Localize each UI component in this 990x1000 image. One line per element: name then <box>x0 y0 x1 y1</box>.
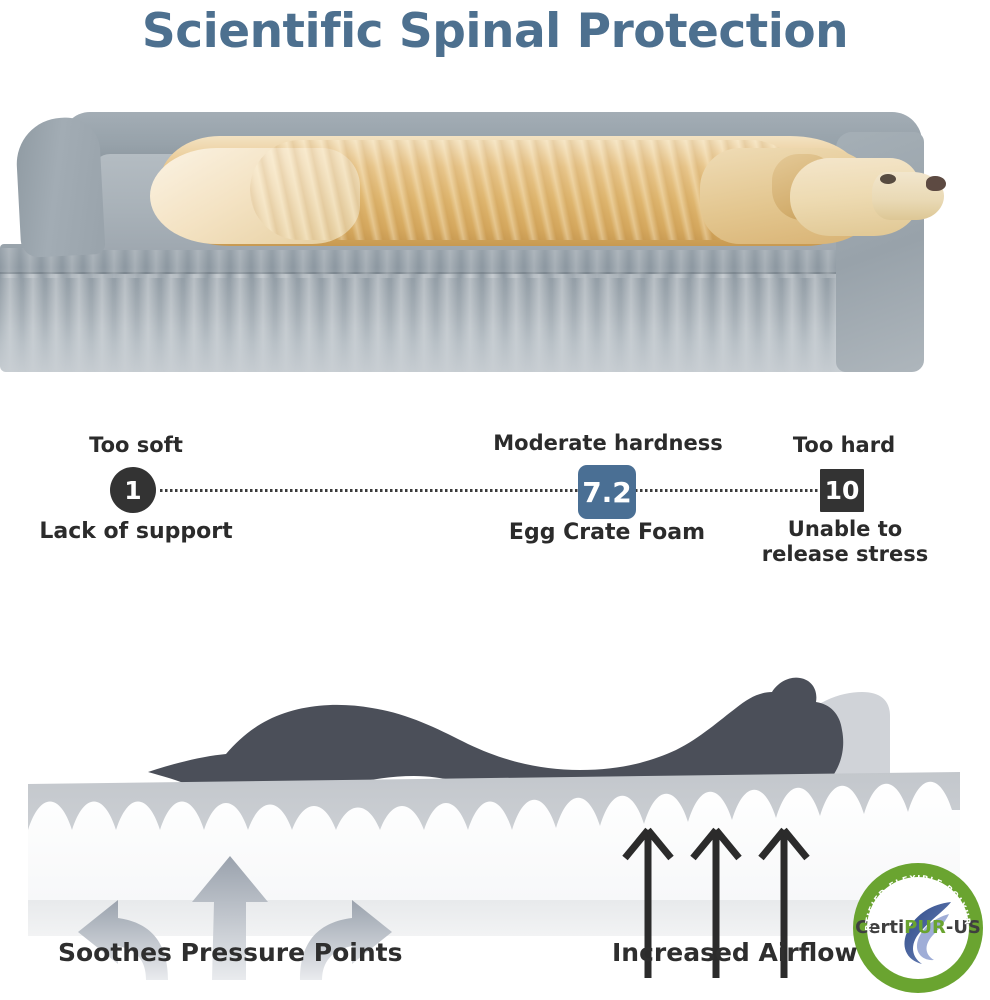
scale-caption-egg-crate-foam: Egg Crate Foam <box>462 520 752 546</box>
scale-dotted-line <box>160 489 820 492</box>
dog-photo-eye <box>880 174 896 184</box>
scale-marker-7-2: 7.2 <box>578 465 636 519</box>
scale-label-too-soft: Too soft <box>38 433 234 458</box>
scale-caption-lack-of-support: Lack of support <box>18 519 254 545</box>
dog-bed-bolster-left <box>14 116 105 258</box>
scale-marker-10: 10 <box>820 469 864 512</box>
scale-caption-unable-to-release-stress: Unable to release stress <box>752 517 938 567</box>
scale-label-moderate-hardness: Moderate hardness <box>468 431 748 456</box>
firmness-scale: Too soft Moderate hardness Too hard 1 7.… <box>0 425 990 575</box>
infographic-page: Scientific Spinal Protection Too soft Mo… <box>0 0 990 1000</box>
certipur-center-text: CertiPUR-US <box>855 917 981 938</box>
caption-increased-airflow: Increased Airflow <box>612 938 858 967</box>
scale-marker-1: 1 <box>110 467 156 513</box>
scale-label-too-hard: Too hard <box>748 433 940 458</box>
hero-product-photo <box>0 96 990 396</box>
certipur-us-logo: CertiPUR-US ® CONTAINS CERTIFIED FLEXIBL… <box>852 862 984 994</box>
egg-crate-texture-face <box>0 274 922 372</box>
page-title: Scientific Spinal Protection <box>0 2 990 62</box>
foam-cross-section-diagram <box>0 580 990 1000</box>
dog-photo-nose <box>926 176 946 191</box>
caption-soothes-pressure-points: Soothes Pressure Points <box>58 938 403 967</box>
